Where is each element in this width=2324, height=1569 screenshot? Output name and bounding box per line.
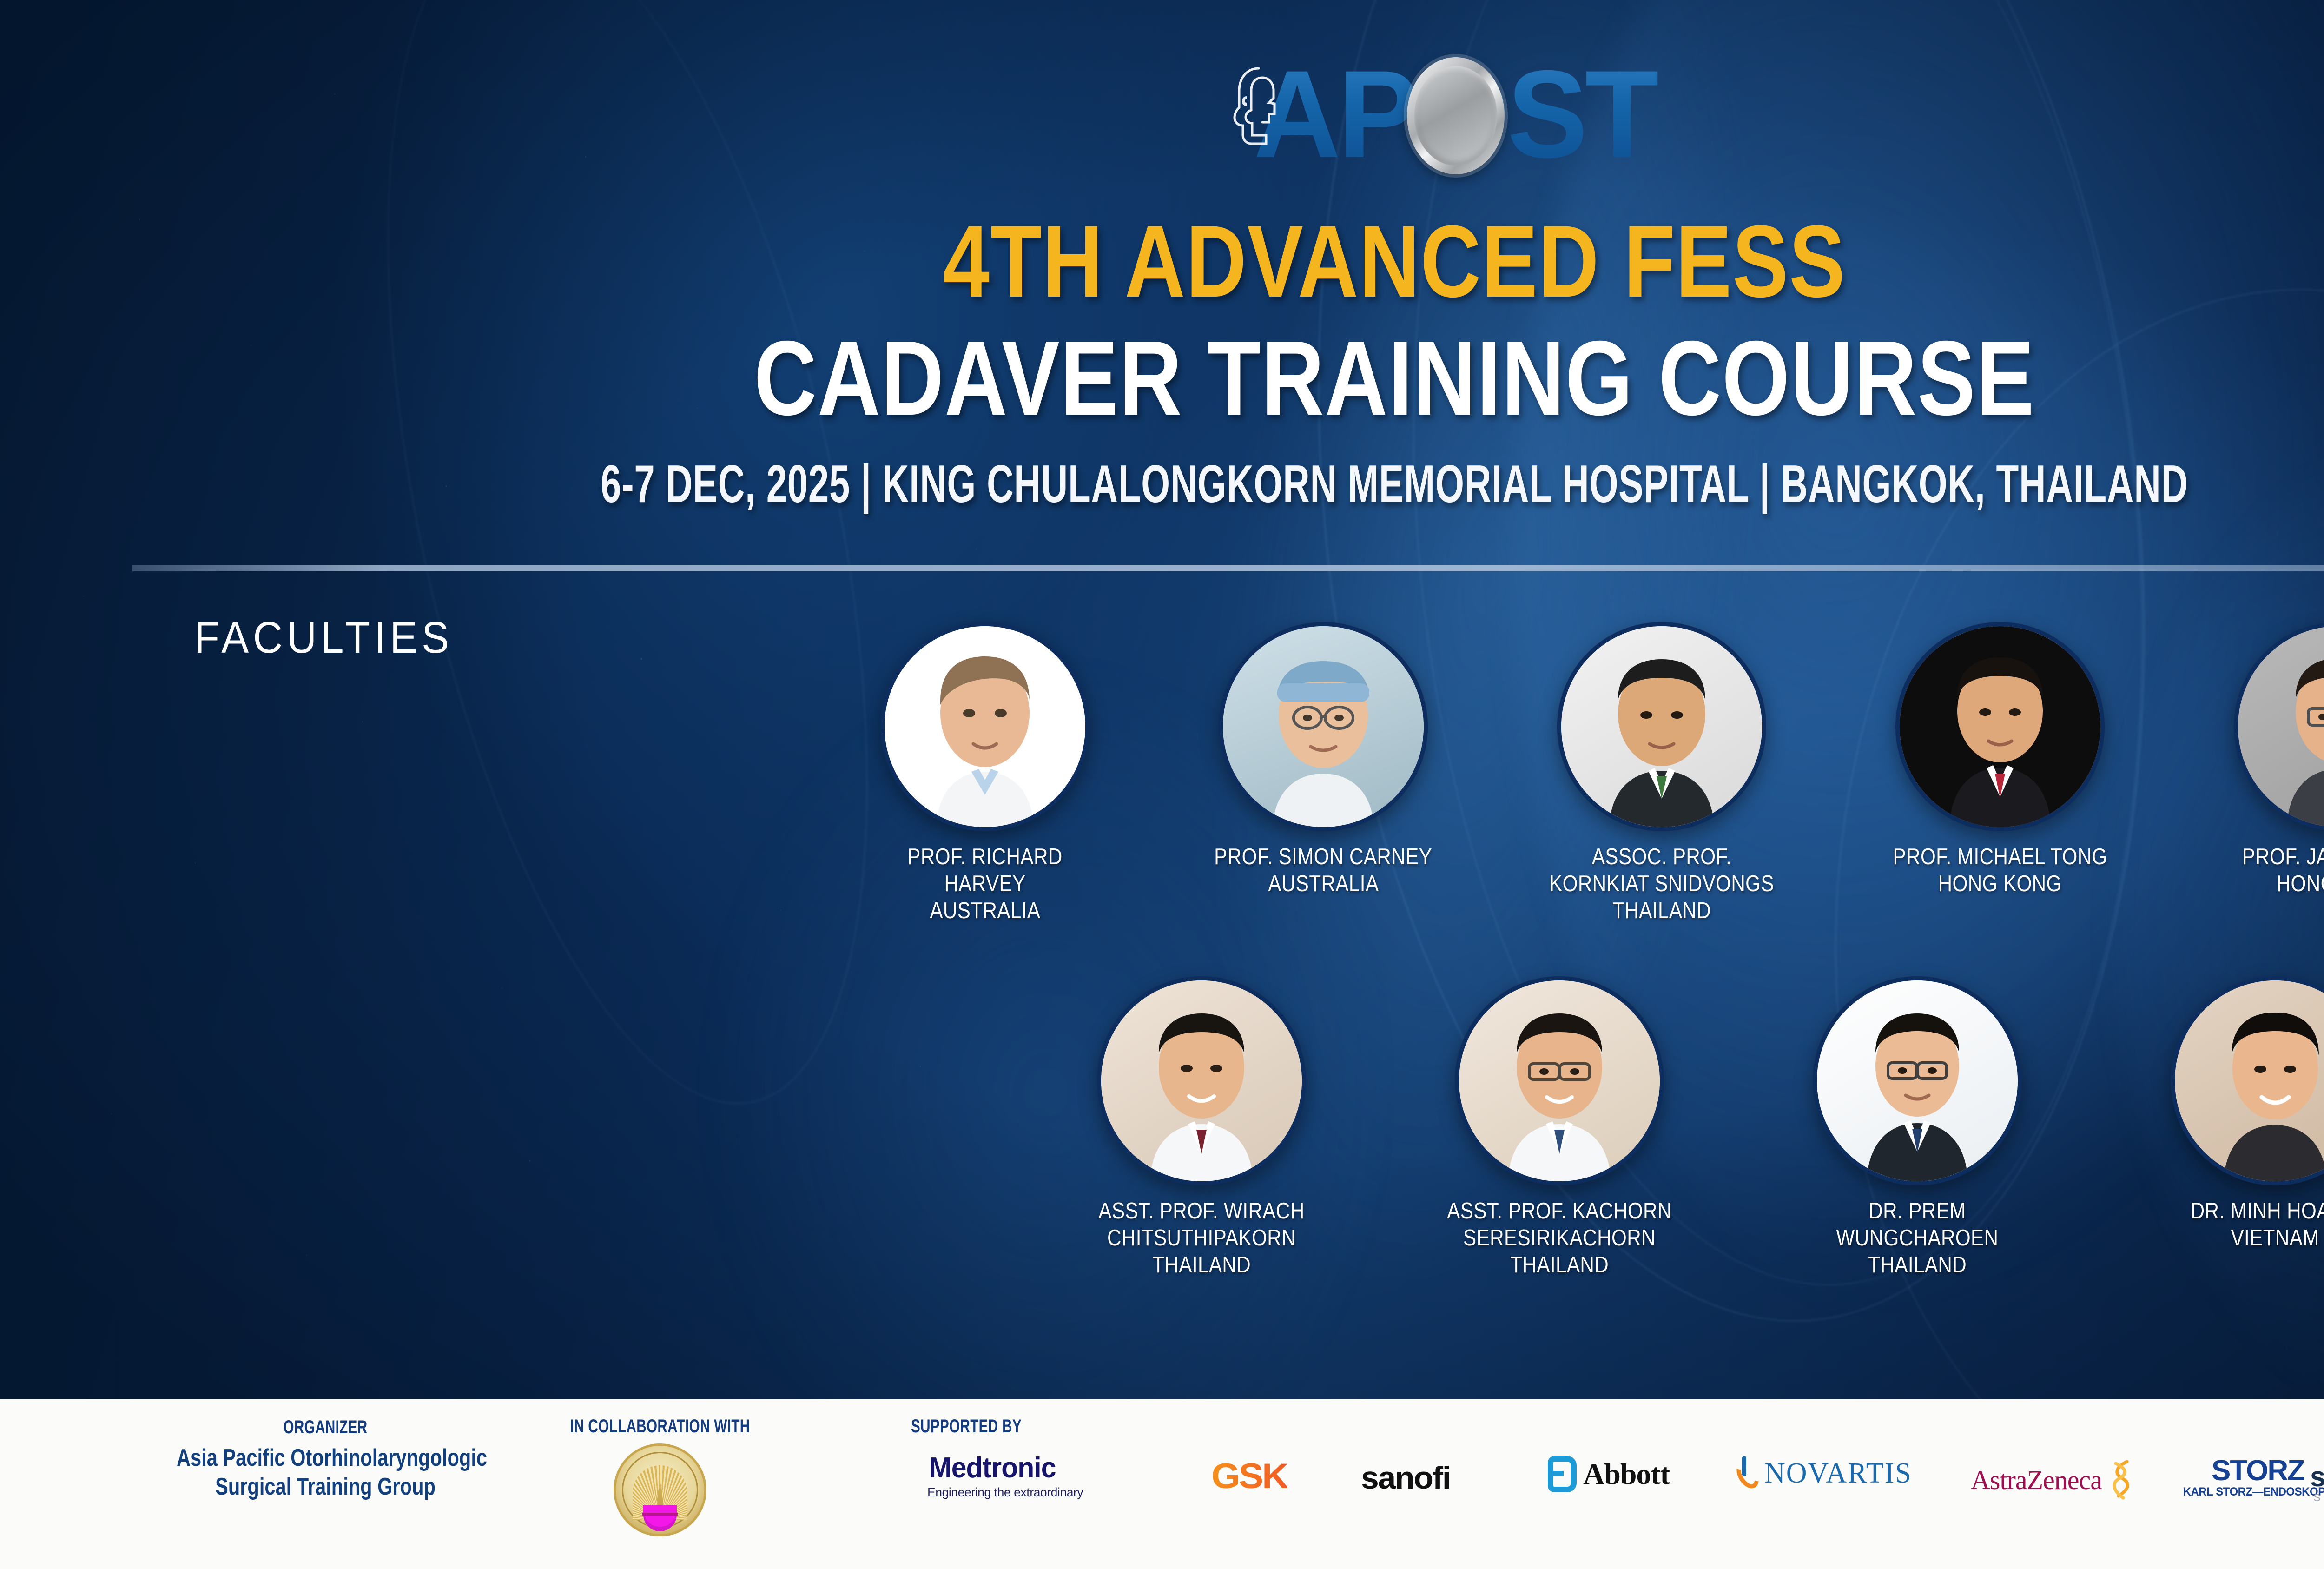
faculty-name: ASST. PROF. WIRACH CHITSUTHIPAKORN — [1082, 1198, 1321, 1251]
faculty-card: PROF. RICHARD HARVEY AUSTRALIA — [845, 622, 1124, 924]
faculty-country: THAILAND — [1612, 897, 1711, 924]
storz-tagline: KARL STORZ—ENDOSKOPE — [2183, 1485, 2324, 1499]
faculty-row-2: ASST. PROF. WIRACH CHITSUTHIPAKORN THAIL… — [0, 976, 2324, 1278]
faculty-name: DR. PREM WUNGCHAROEN — [1797, 1198, 2037, 1251]
faculty-portrait — [1455, 976, 1664, 1185]
faculty-portrait — [1219, 622, 1428, 831]
chulalongkorn-seal-icon — [614, 1443, 706, 1536]
sponsor-logo-novartis: NOVARTIS — [1738, 1456, 1912, 1490]
faculty-name: PROF. SIMON CARNEY — [1214, 843, 1432, 870]
faculty-card: ASST. PROF. KACHORN SERESIRIKACHORN THAI… — [1420, 976, 1699, 1278]
footer: ORGANIZER Asia Pacific Otorhinolaryngolo… — [0, 1399, 2324, 1569]
portrait-illustration — [880, 622, 1089, 831]
conference-poster: APOST 4TH ADVANCED FESS CADAVER TRAINING… — [0, 0, 2324, 1569]
faculty-card: ASST. PROF. WIRACH CHITSUTHIPAKORN THAIL… — [1062, 976, 1341, 1278]
title-line-1: 4TH ADVANCED FESS — [251, 210, 2324, 312]
faculty-card: PROF. SIMON CARNEY AUSTRALIA — [1184, 622, 1463, 924]
sponsor-logo-sanofi: sanofi — [1362, 1460, 1449, 1496]
sponsor-logo-medtronic: Medtronic Engineering the extraordinary — [925, 1451, 1086, 1500]
portrait-illustration — [2234, 622, 2324, 831]
faculty-card: PROF. MICHAEL TONG HONG KONG — [1861, 622, 2139, 924]
faculty-portrait — [2234, 622, 2324, 831]
sponsor-logo-strauss: strauss SURGICAL — [2310, 1461, 2324, 1504]
faculty-card: PROF. JASON CHAN HONG KONG — [2199, 622, 2324, 924]
gsk-wordmark: GSK — [1211, 1456, 1287, 1496]
medtronic-wordmark: Medtronic — [929, 1451, 1082, 1484]
faculty-name: DR. MINH HOANG — [2191, 1198, 2324, 1225]
portrait-illustration — [1097, 976, 1306, 1185]
faculty-portrait — [880, 622, 1089, 831]
organizer-name-line-1: Asia Pacific Otorhinolaryngologic — [177, 1443, 474, 1472]
faculty-name: PROF. JASON CHAN — [2242, 843, 2324, 870]
supported-by-label: SUPPORTED BY — [911, 1416, 1022, 1437]
collaboration-block: IN COLLABORATION WITH — [530, 1416, 790, 1536]
portrait-illustration — [1219, 622, 1428, 831]
faculty-portrait — [2171, 976, 2324, 1185]
portrait-illustration — [1557, 622, 1766, 831]
faculty-row-1: PROF. RICHARD HARVEY AUSTRALIA — [0, 622, 2324, 924]
astrazeneca-wordmark: AstraZeneca — [1971, 1464, 2102, 1496]
portrait-illustration — [1813, 976, 2022, 1185]
astrazeneca-helix-icon — [2106, 1460, 2139, 1500]
portrait-illustration — [2171, 976, 2324, 1185]
faculty-portrait — [1557, 622, 1766, 831]
abbott-wordmark: Abbott — [1583, 1457, 1670, 1491]
sanofi-wordmark: sanofi — [1361, 1460, 1450, 1496]
sponsor-logo-astrazeneca: AstraZeneca — [1971, 1460, 2139, 1500]
novartis-flame-icon — [1738, 1456, 1758, 1490]
faculty-name: PROF. MICHAEL TONG — [1893, 843, 2107, 870]
faculty-country: THAILAND — [1868, 1251, 1967, 1278]
portrait-illustration — [1455, 976, 1664, 1185]
faculty-country: THAILAND — [1152, 1251, 1251, 1278]
medallion-icon — [1407, 57, 1505, 174]
faculty-portrait — [1813, 976, 2022, 1185]
medtronic-tagline: Engineering the extraordinary — [927, 1485, 1083, 1500]
faculty-card: ASSOC. PROF. KORNKIAT SNIDVONGS THAILAND — [1522, 622, 1801, 924]
faculty-country: AUSTRALIA — [930, 897, 1040, 924]
faculty-portrait — [1895, 622, 2105, 831]
collaboration-label: IN COLLABORATION WITH — [564, 1416, 756, 1437]
sponsor-logo-abbott: Abbott — [1548, 1456, 1670, 1492]
sponsor-logo-storz: STORZ KARL STORZ—ENDOSKOPE — [2180, 1454, 2324, 1499]
faculty-card: DR. PREM WUNGCHAROEN THAILAND — [1778, 976, 2057, 1278]
faculty-name: ASSOC. PROF. KORNKIAT SNIDVONGS — [1542, 843, 1782, 897]
strauss-tagline: SURGICAL — [2310, 1492, 2324, 1504]
portrait-illustration — [1895, 622, 2105, 831]
faculty-name: PROF. RICHARD HARVEY — [865, 843, 1105, 897]
organizer-name-line-2: Surgical Training Group — [177, 1472, 474, 1501]
apost-logo: APOST — [1204, 44, 1706, 184]
storz-wordmark: STORZ — [2180, 1454, 2324, 1487]
faculty-country: THAILAND — [1510, 1251, 1609, 1278]
novartis-wordmark: NOVARTIS — [1764, 1457, 1912, 1490]
faculty-name: ASST. PROF. KACHORN SERESIRIKACHORN — [1439, 1198, 1679, 1251]
abbott-mark-icon — [1548, 1456, 1577, 1492]
supported-by-block: SUPPORTED BY — [911, 1416, 1061, 1437]
head-profile-icon — [1204, 44, 1301, 161]
title-line-2: CADAVER TRAINING COURSE — [251, 325, 2324, 431]
faculty-card: DR. MINH HOANG VIETNAM — [2136, 976, 2324, 1278]
organizer-block: ORGANIZER Asia Pacific Otorhinolaryngolo… — [139, 1417, 511, 1501]
faculty-country: VIETNAM — [2231, 1225, 2319, 1251]
venue-date-line: 6-7 DEC, 2025 | KING CHULALONGKORN MEMOR… — [418, 458, 2324, 511]
faculty-portrait — [1097, 976, 1306, 1185]
faculty-country: HONG KONG — [1938, 870, 2062, 897]
organizer-label: ORGANIZER — [188, 1417, 463, 1438]
strauss-wordmark: strauss — [2310, 1461, 2324, 1493]
sponsor-logo-gsk: GSK — [1213, 1456, 1286, 1496]
faculty-country: HONG KONG — [2277, 870, 2324, 897]
faculty-country: AUSTRALIA — [1268, 870, 1379, 897]
section-divider — [132, 565, 2324, 571]
